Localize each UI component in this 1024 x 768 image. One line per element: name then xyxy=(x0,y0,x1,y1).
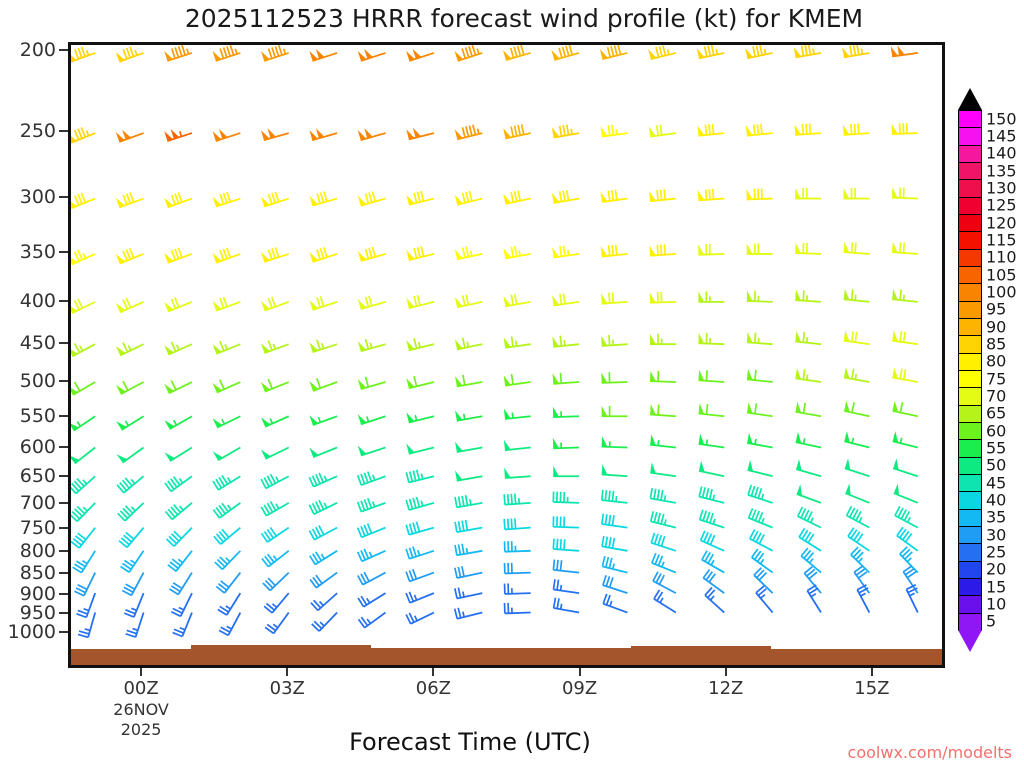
colorbar-tick-label: 45 xyxy=(986,473,1006,492)
colorbar-tick-label: 25 xyxy=(986,543,1006,562)
colorbar-tick-label: 115 xyxy=(986,231,1017,250)
colorbar-band xyxy=(958,595,982,613)
colorbar-band xyxy=(958,249,982,267)
colorbar-tick-label: 135 xyxy=(986,161,1017,180)
x-axis-tick xyxy=(140,668,142,676)
colorbar-tick-label: 50 xyxy=(986,456,1006,475)
colorbar-band xyxy=(958,335,982,353)
colorbar-tick-label: 125 xyxy=(986,196,1017,215)
colorbar-band xyxy=(958,543,982,561)
colorbar-tick-label: 95 xyxy=(986,300,1006,319)
colorbar-tick-label: 100 xyxy=(986,283,1017,302)
colorbar-tick-label: 90 xyxy=(986,317,1006,336)
colorbar-tick-label: 130 xyxy=(986,179,1017,198)
colorbar-band xyxy=(958,491,982,509)
colorbar-tick-label: 120 xyxy=(986,213,1017,232)
colorbar-tick-label: 150 xyxy=(986,109,1017,128)
colorbar-band xyxy=(958,578,982,596)
colorbar-band xyxy=(958,179,982,197)
colorbar-band xyxy=(958,387,982,405)
colorbar-under-arrow xyxy=(958,630,982,652)
colorbar-band xyxy=(958,266,982,284)
x-axis-tick xyxy=(725,668,727,676)
colorbar-tick-label: 20 xyxy=(986,560,1006,579)
colorbar-band xyxy=(958,439,982,457)
watermark: coolwx.com/modelts xyxy=(848,743,1012,762)
x-axis-label: 12Z xyxy=(708,678,743,699)
colorbar-band xyxy=(958,231,982,249)
x-axis-tick xyxy=(871,668,873,676)
colorbar-band xyxy=(958,509,982,527)
colorbar: 1501451401351301251201151101051009590858… xyxy=(952,88,1024,658)
colorbar-tick-label: 110 xyxy=(986,248,1017,267)
colorbar-band xyxy=(958,474,982,492)
colorbar-tick-label: 80 xyxy=(986,352,1006,371)
colorbar-band xyxy=(958,526,982,544)
colorbar-tick-label: 145 xyxy=(986,127,1017,146)
colorbar-band xyxy=(958,283,982,301)
x-axis-label: 00Z xyxy=(123,678,158,699)
colorbar-band xyxy=(958,353,982,371)
colorbar-tick-label: 85 xyxy=(986,335,1006,354)
colorbar-tick-label: 15 xyxy=(986,577,1006,596)
colorbar-band xyxy=(958,457,982,475)
x-axis-tick xyxy=(579,668,581,676)
colorbar-band xyxy=(958,318,982,336)
colorbar-over-arrow xyxy=(958,88,982,110)
colorbar-band xyxy=(958,127,982,145)
colorbar-band xyxy=(958,370,982,388)
colorbar-band xyxy=(958,197,982,215)
x-axis-label: 15Z xyxy=(854,678,889,699)
colorbar-tick-label: 40 xyxy=(986,491,1006,510)
colorbar-tick-label: 30 xyxy=(986,525,1006,544)
x-axis-label: 06Z xyxy=(416,678,451,699)
colorbar-tick-label: 65 xyxy=(986,404,1006,423)
colorbar-band xyxy=(958,561,982,579)
colorbar-tick-label: 10 xyxy=(986,595,1006,614)
x-axis-label: 09Z xyxy=(562,678,597,699)
x-axis-label: 03Z xyxy=(270,678,305,699)
colorbar-tick-label: 35 xyxy=(986,508,1006,527)
x-axis-title: Forecast Time (UTC) xyxy=(0,728,940,756)
x-axis: 00Z26NOV202503Z06Z09Z12Z15Z xyxy=(0,0,1024,768)
colorbar-band xyxy=(958,214,982,232)
colorbar-tick-label: 60 xyxy=(986,421,1006,440)
x-axis-date-day: 26NOV xyxy=(113,700,169,720)
colorbar-band xyxy=(958,110,982,128)
colorbar-band xyxy=(958,145,982,163)
x-axis-tick xyxy=(286,668,288,676)
colorbar-tick-label: 5 xyxy=(986,612,996,631)
colorbar-band xyxy=(958,162,982,180)
colorbar-band xyxy=(958,422,982,440)
colorbar-band xyxy=(958,301,982,319)
colorbar-tick-label: 75 xyxy=(986,369,1006,388)
colorbar-band xyxy=(958,405,982,423)
colorbar-tick-label: 105 xyxy=(986,265,1017,284)
colorbar-tick-label: 70 xyxy=(986,387,1006,406)
colorbar-band xyxy=(958,613,982,631)
x-axis-tick xyxy=(432,668,434,676)
colorbar-tick-label: 140 xyxy=(986,144,1017,163)
colorbar-tick-label: 55 xyxy=(986,439,1006,458)
